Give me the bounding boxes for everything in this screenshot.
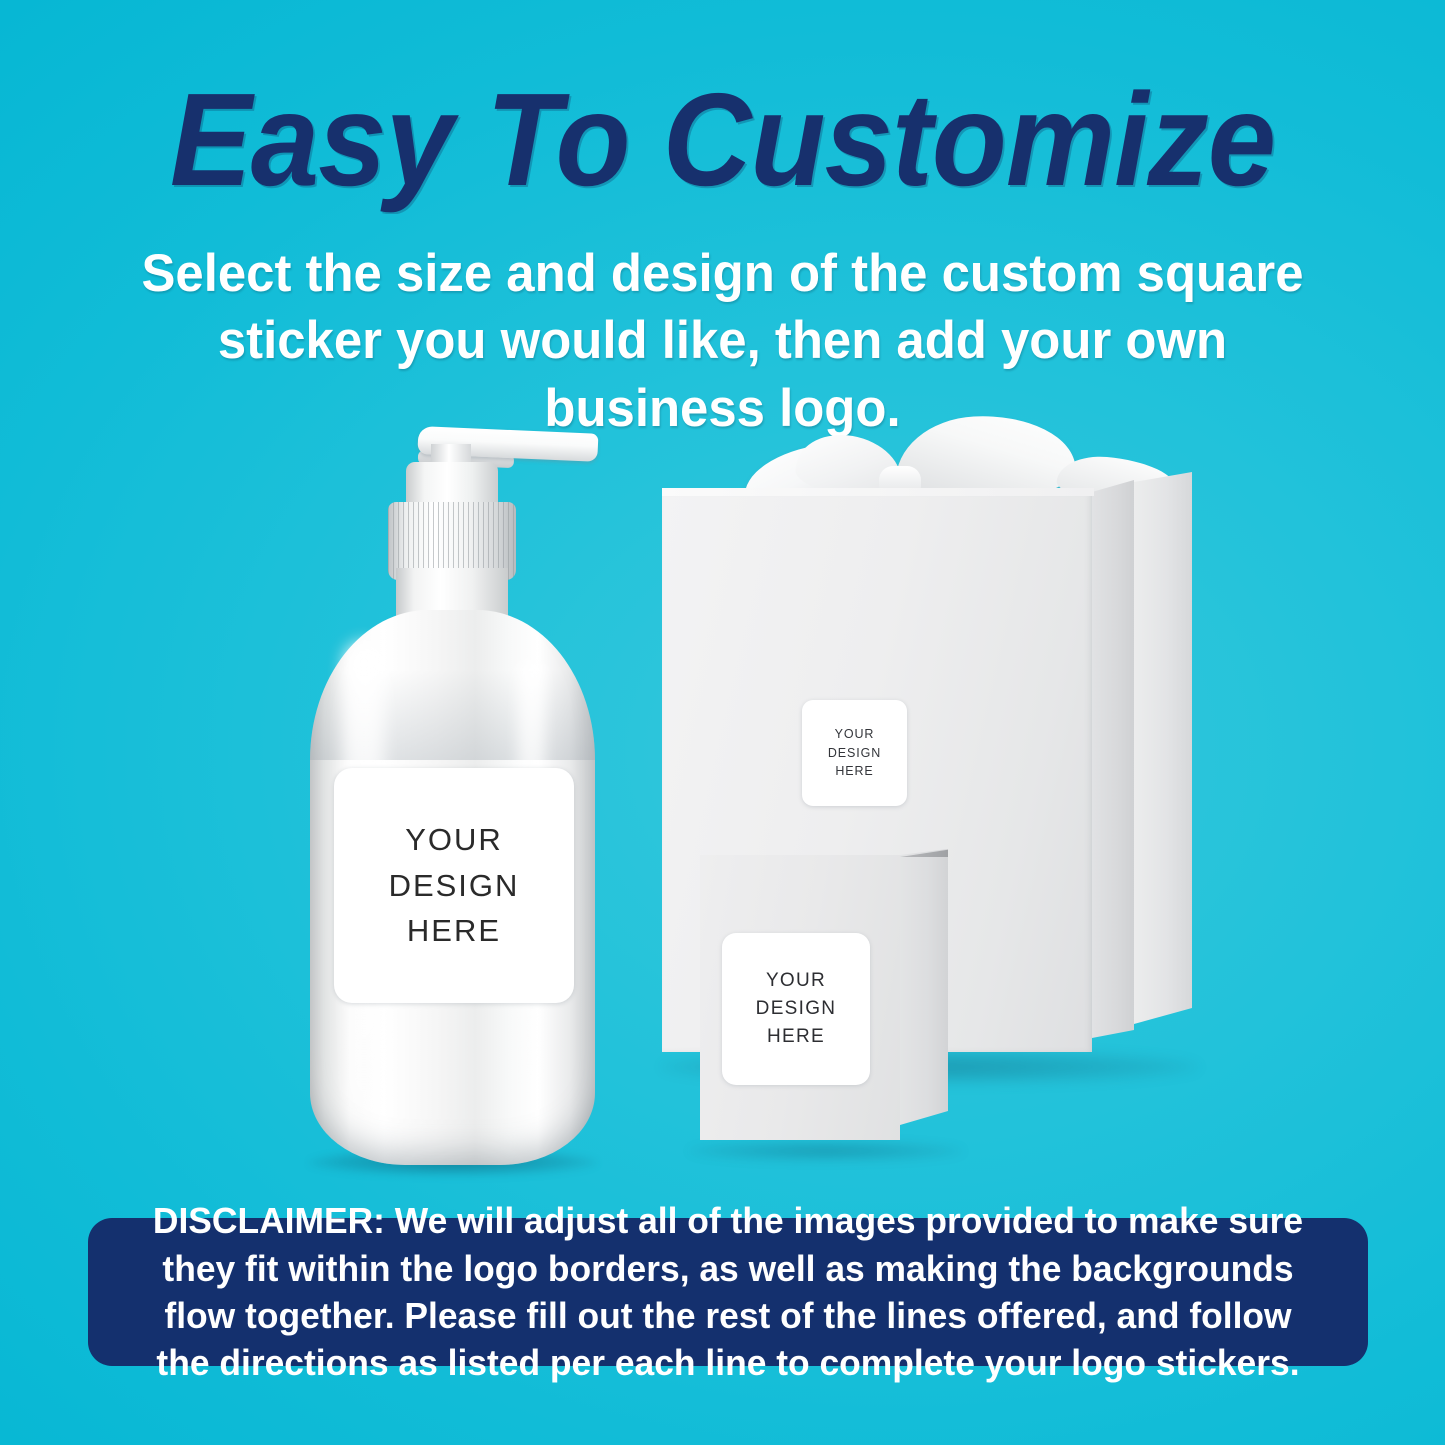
- sticker-line-3: HERE: [767, 1023, 825, 1051]
- promo-graphic: Easy To Customize Select the size and de…: [0, 0, 1445, 1445]
- disclaimer-label: DISCLAIMER:: [153, 1200, 385, 1241]
- sticker-line-2: DESIGN: [389, 863, 520, 909]
- sticker-line-1: YOUR: [835, 725, 875, 744]
- sticker-line-1: YOUR: [405, 817, 503, 863]
- pump-bottle: YOUR DESIGN HERE: [290, 410, 620, 1200]
- disclaimer-text: DISCLAIMER: We will adjust all of the im…: [134, 1197, 1321, 1387]
- small-box-sticker-label: YOUR DESIGN HERE: [722, 933, 870, 1085]
- page-title: Easy To Customize: [51, 74, 1395, 206]
- gift-box-side-outer: [1134, 472, 1192, 1024]
- small-box-shadow: [688, 1141, 964, 1161]
- small-box-side-face: [900, 849, 948, 1125]
- sticker-line-1: YOUR: [766, 967, 826, 995]
- sticker-line-2: DESIGN: [756, 995, 837, 1023]
- gift-box-side-inner: [1092, 480, 1134, 1038]
- small-box: YOUR DESIGN HERE: [680, 845, 970, 1160]
- sticker-line-3: HERE: [835, 762, 873, 781]
- disclaimer-box: DISCLAIMER: We will adjust all of the im…: [88, 1218, 1368, 1366]
- bottle-sticker-label: YOUR DESIGN HERE: [334, 768, 574, 1003]
- gift-box-sticker-label: YOUR DESIGN HERE: [802, 700, 907, 806]
- gift-box-top-edge: [662, 488, 1094, 496]
- product-scene: YOUR DESIGN HERE YOUR DESIGN HERE: [0, 390, 1445, 1190]
- product-surface: [650, 1410, 970, 1445]
- sticker-line-3: HERE: [407, 908, 501, 954]
- sticker-line-2: DESIGN: [828, 744, 881, 763]
